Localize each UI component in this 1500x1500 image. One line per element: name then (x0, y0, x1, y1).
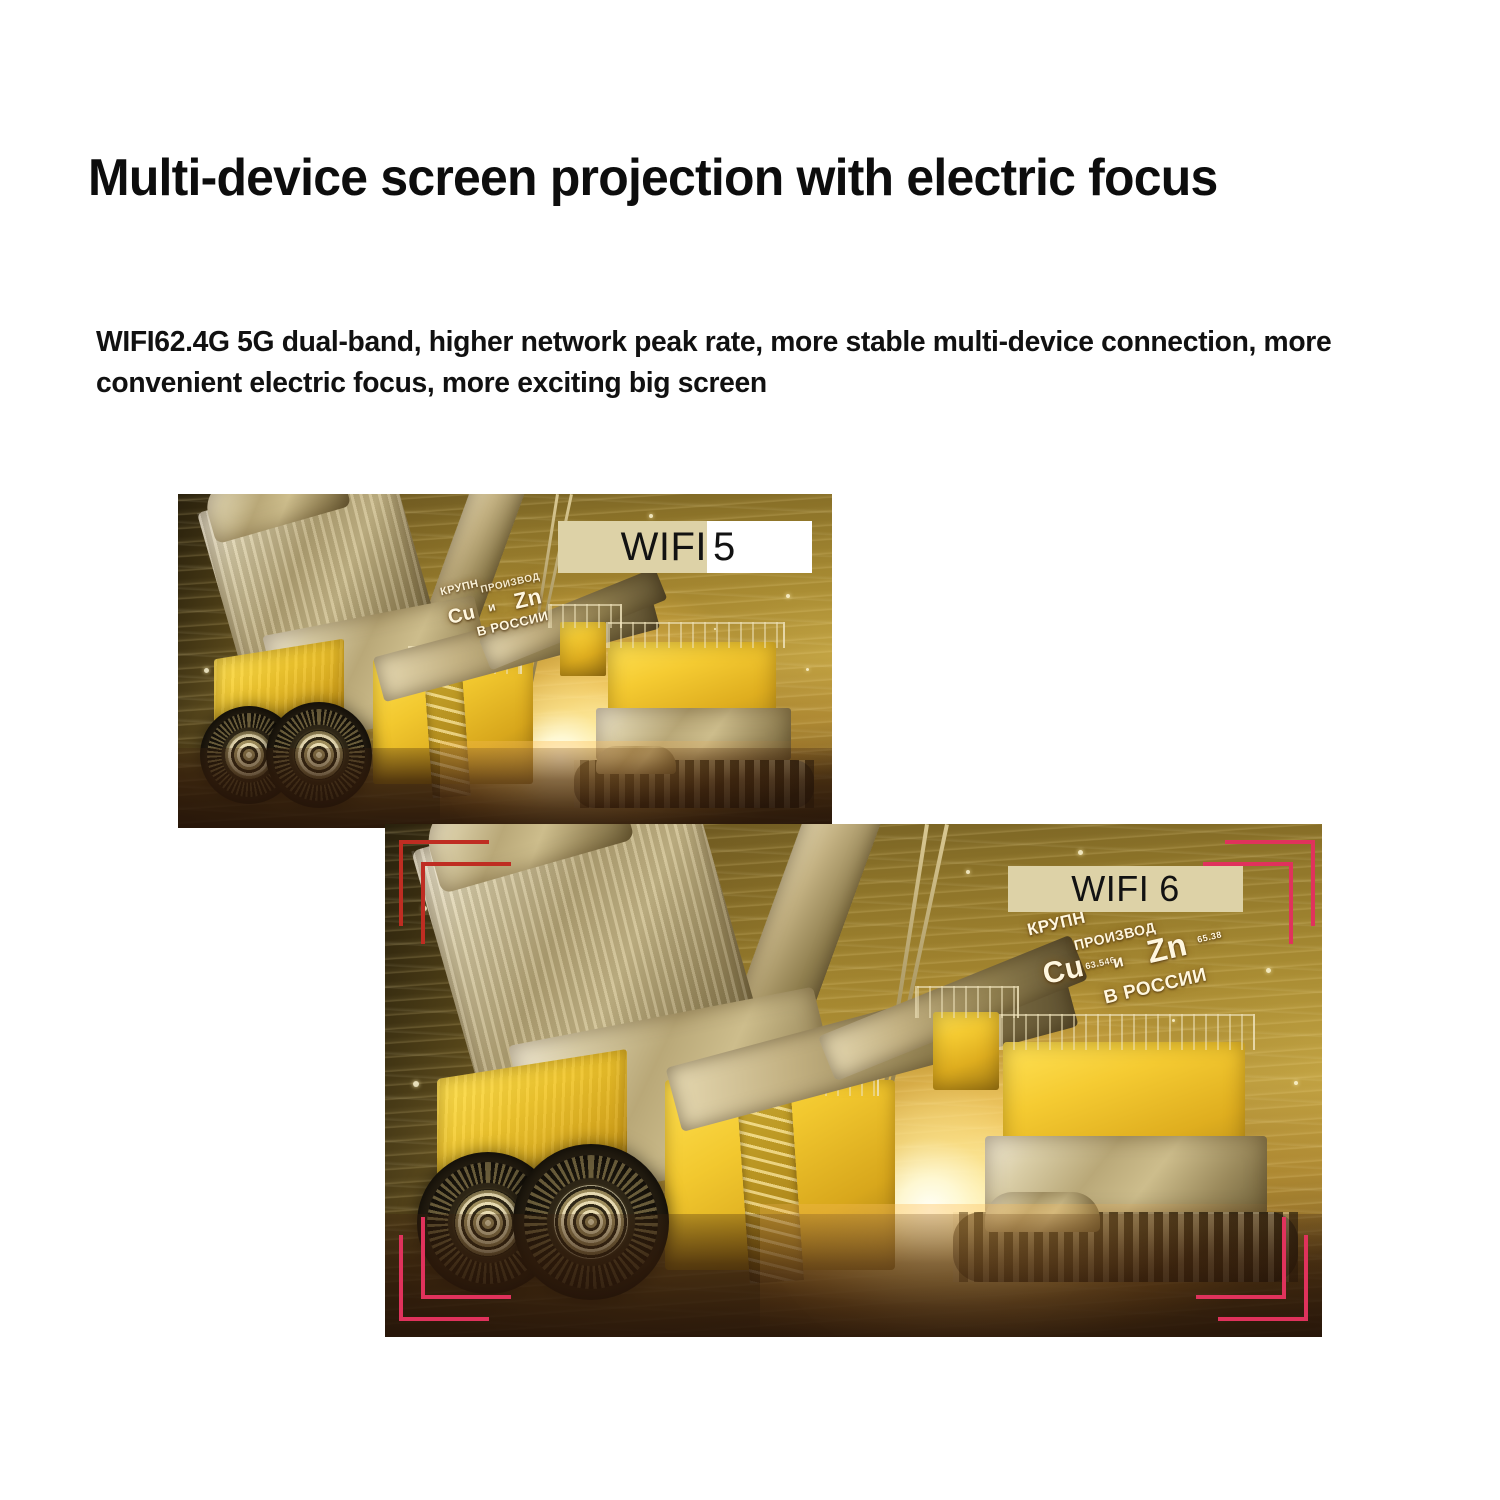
excavator-operator-cab (560, 622, 606, 676)
wifi6-screen-preview[interactable]: КРУПН ПРОИЗВОД Cu 63.546 и Zn 65.38 В РО… (385, 824, 1322, 1337)
excavator-cab-railing (548, 604, 622, 628)
excavator-cab-railing (915, 986, 1019, 1018)
wifi6-label[interactable]: WIFI 6 (1008, 866, 1243, 912)
wifi5-label-prefix: WIFI (621, 525, 707, 570)
header-text-block: Multi-device screen projection with elec… (88, 148, 1418, 209)
wifi5-label-white-part: 5 (707, 521, 812, 573)
wifi5-label-value: 5 (707, 525, 736, 570)
wifi5-label-tan-part: WIFI (558, 521, 707, 573)
page-subtitle: WIFI62.4G 5G dual-band, higher network p… (96, 322, 1383, 404)
focus-bracket-bottom-left (399, 1217, 511, 1321)
wifi6-label-prefix: WIFI (1071, 868, 1149, 910)
excavator-upper-railing (999, 1014, 1255, 1050)
wifi5-screen-preview[interactable]: КРУПН ПРОИЗВОД Cu и Zn В РОССИИ WIFI 5 (178, 494, 832, 828)
excavator-operator-cab (933, 1012, 999, 1090)
page-title: Multi-device screen projection with elec… (88, 148, 1365, 209)
scene-ground-glow (440, 741, 832, 828)
focus-bracket-bottom-right (1196, 1217, 1308, 1321)
wifi5-label[interactable]: WIFI 5 (558, 521, 812, 573)
excavator-upper-railing (606, 622, 785, 648)
wifi6-label-value: 6 (1149, 868, 1180, 910)
focus-bracket-top-left (399, 840, 511, 944)
